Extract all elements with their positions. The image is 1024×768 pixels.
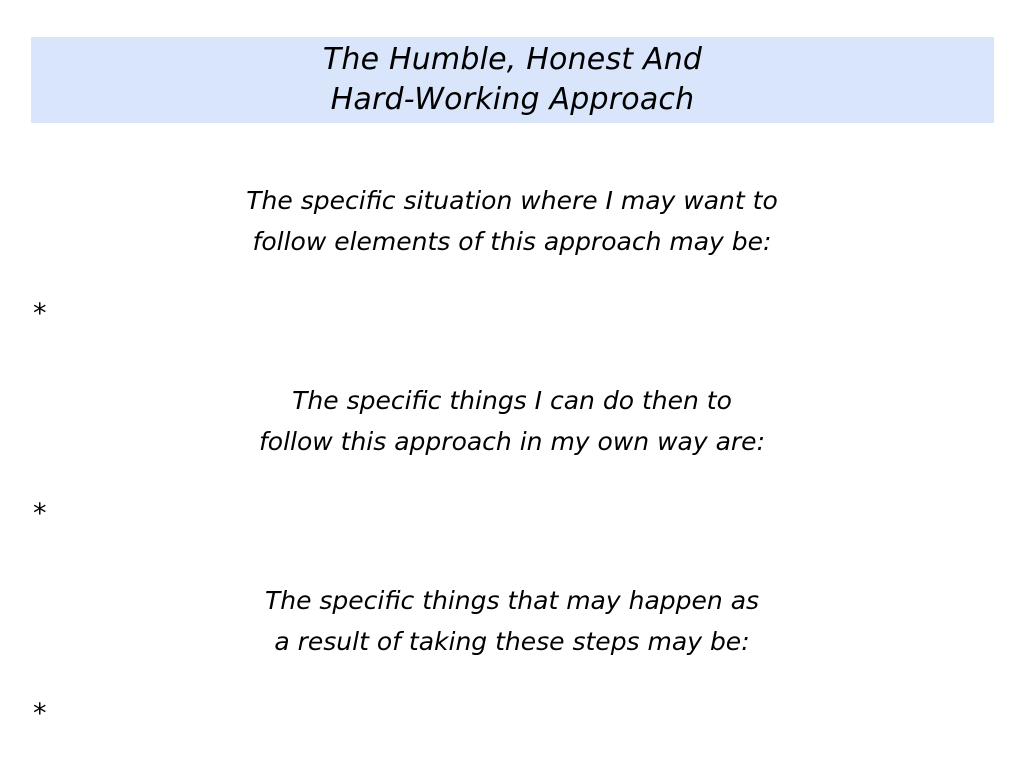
- prompt-block-actions: The specific things I can do then to fol…: [0, 380, 1024, 462]
- prompt-block-situation: The specific situation where I may want …: [0, 180, 1024, 262]
- title-band: The Humble, Honest And Hard-Working Appr…: [31, 37, 994, 123]
- title-line-2: Hard-Working Approach: [331, 80, 695, 120]
- prompt-block-results: The specific things that may happen as a…: [0, 580, 1024, 662]
- prompt-3-line-2: a result of taking these steps may be:: [0, 621, 1024, 662]
- prompt-2-line-1: The specific things I can do then to: [0, 380, 1024, 421]
- prompt-3-line-1: The specific things that may happen as: [0, 580, 1024, 621]
- prompt-1-line-1: The specific situation where I may want …: [0, 180, 1024, 221]
- bullet-marker-2[interactable]: *: [33, 500, 47, 527]
- title-line-1: The Humble, Honest And: [323, 40, 702, 80]
- prompt-2-line-2: follow this approach in my own way are:: [0, 421, 1024, 462]
- slide-canvas: The Humble, Honest And Hard-Working Appr…: [0, 0, 1024, 768]
- bullet-marker-3[interactable]: *: [33, 700, 47, 727]
- bullet-marker-1[interactable]: *: [33, 300, 47, 327]
- prompt-1-line-2: follow elements of this approach may be:: [0, 221, 1024, 262]
